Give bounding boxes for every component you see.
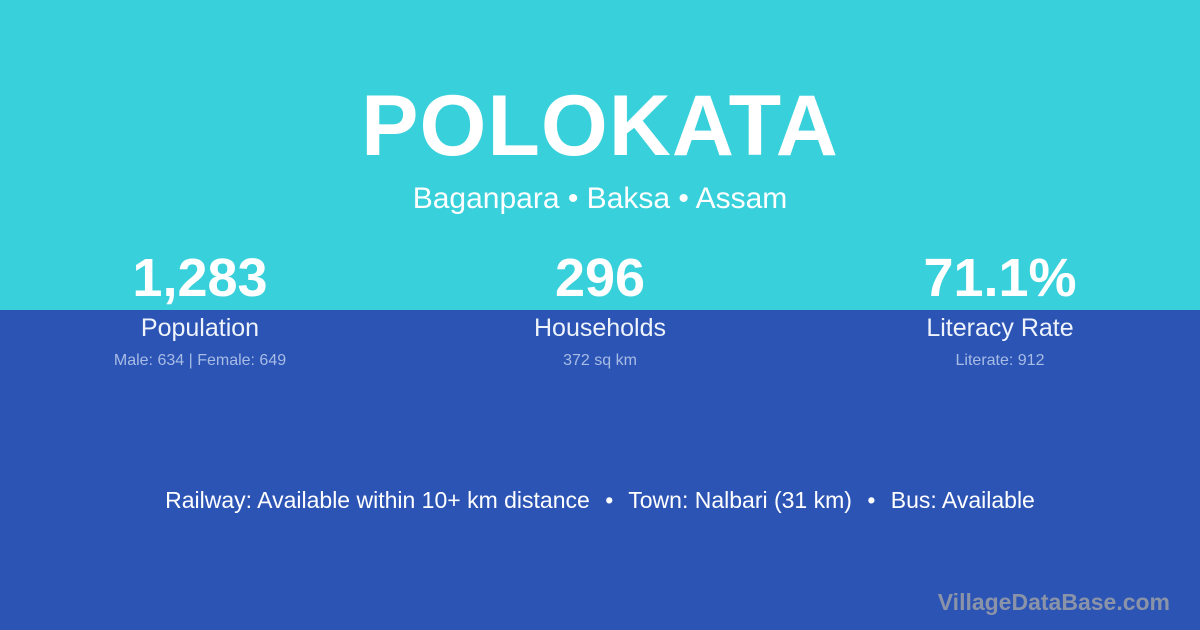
stat-value: 1,283 [0, 246, 400, 310]
stat-value: 71.1% [800, 246, 1200, 310]
stat-population: 1,283 Population Male: 634 | Female: 649 [0, 246, 400, 372]
stats-row: 1,283 Population Male: 634 | Female: 649… [0, 246, 1200, 372]
stat-households: 296 Households 372 sq km [400, 246, 800, 372]
stat-value: 296 [400, 246, 800, 310]
facility-railway: Railway: Available within 10+ km distanc… [165, 487, 590, 513]
bullet-separator-icon: • [596, 487, 622, 513]
site-watermark: VillageDataBase.com [938, 587, 1170, 617]
stat-label: Population [0, 312, 400, 344]
village-title: POLOKATA [0, 78, 1200, 174]
stat-literacy-rate: 71.1% Literacy Rate Literate: 912 [800, 246, 1200, 372]
facilities-line: Railway: Available within 10+ km distanc… [0, 484, 1200, 516]
stat-sublabel: Literate: 912 [800, 350, 1200, 372]
village-info-card: POLOKATA Baganpara • Baksa • Assam 1,283… [0, 0, 1200, 630]
card-content: POLOKATA Baganpara • Baksa • Assam 1,283… [0, 0, 1200, 630]
stat-label: Literacy Rate [800, 312, 1200, 344]
facility-town: Town: Nalbari (31 km) [628, 487, 852, 513]
village-location-subtitle: Baganpara • Baksa • Assam [0, 180, 1200, 218]
bullet-separator-icon: • [858, 487, 884, 513]
stat-sublabel: Male: 634 | Female: 649 [0, 350, 400, 372]
stat-label: Households [400, 312, 800, 344]
stat-sublabel: 372 sq km [400, 350, 800, 372]
facility-bus: Bus: Available [891, 487, 1035, 513]
